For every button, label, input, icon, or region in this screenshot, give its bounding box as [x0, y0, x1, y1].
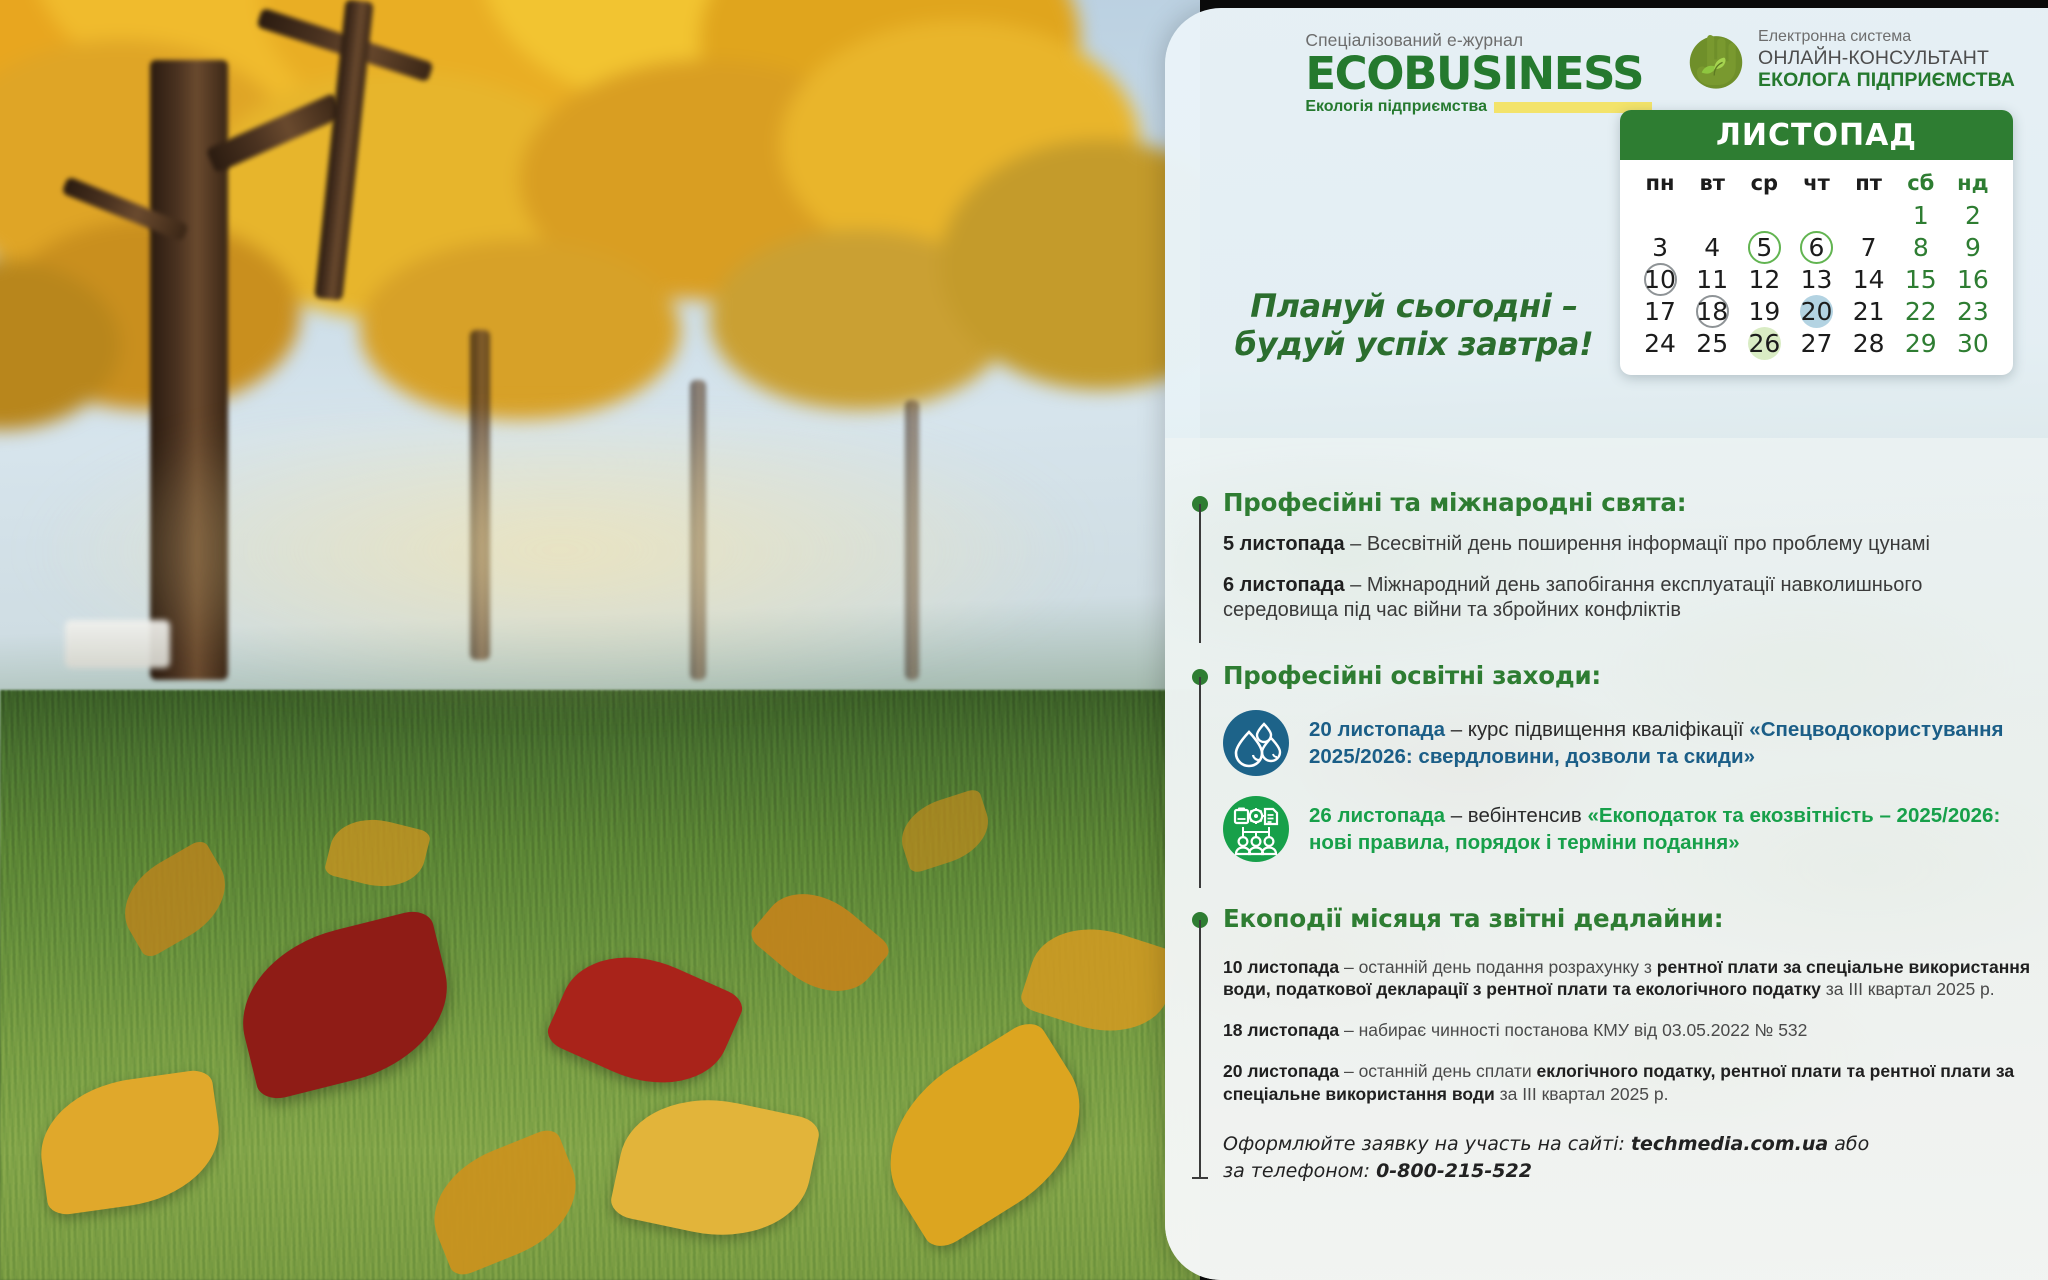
brand-header: Спеціалізований е-журнал ECOBUSINESS Еко…: [1165, 22, 2048, 116]
calendar-weekday-пт: пт: [1843, 166, 1895, 199]
section-deadlines: Екоподії місяця та звітні дедлайни: 10 л…: [1187, 904, 2039, 1184]
consultant-logo[interactable]: Електронна система ОНЛАЙН-КОНСУЛЬТАНТ ЕК…: [1686, 22, 2015, 92]
calendar-week-row: 17181920212223: [1634, 295, 1999, 327]
footer-cta: Оформлюйте заявку на участь на сайті: te…: [1223, 1131, 2039, 1184]
consultant-line-1: Електронна система: [1758, 28, 2015, 47]
deadline-lite-2: за III квартал 2025 р.: [1826, 979, 1995, 999]
calendar-day-15[interactable]: 15: [1895, 263, 1947, 295]
calendar-day-27[interactable]: 27: [1790, 327, 1842, 359]
holiday-dash: –: [1345, 533, 1367, 555]
section-rail: [1199, 504, 1201, 643]
calendar-weekday-пн: пн: [1634, 166, 1686, 199]
calendar-day-empty: [1738, 199, 1790, 231]
calendar-day-4[interactable]: 4: [1686, 231, 1738, 263]
holiday-item: 6 листопада – Міжнародний день запобіган…: [1223, 573, 2039, 623]
calendar-day-number: [1644, 199, 1677, 232]
calendar-day-number: 28: [1852, 327, 1885, 360]
tagline-line-2: будуй успіх завтра!: [1179, 326, 1649, 364]
event-date: 20 листопада: [1309, 718, 1445, 741]
calendar-day-5[interactable]: 5: [1738, 231, 1790, 263]
calendar-day-number: 15: [1904, 263, 1937, 296]
event-text-ecotax: 26 листопада – вебінтенсив «Екоподаток т…: [1309, 802, 2039, 856]
calendar-day-number: 14: [1852, 263, 1885, 296]
calendar-day-3[interactable]: 3: [1634, 231, 1686, 263]
tagline-line-1: Плануй сьогодні –: [1179, 288, 1649, 326]
calendar-day-number: 8: [1904, 231, 1937, 264]
calendar-day-number: [1748, 199, 1781, 232]
event-text-water: 20 листопада – курс підвищення кваліфіка…: [1309, 716, 2039, 770]
calendar-day-number: 2: [1956, 199, 1989, 232]
calendar-day-number: 21: [1852, 295, 1885, 328]
holiday-item: 5 листопада – Всесвітній день поширення …: [1223, 532, 2039, 557]
calendar-weekday-row: пнвтсрчтптсбнд: [1634, 166, 1999, 199]
calendar-day-21[interactable]: 21: [1843, 295, 1895, 327]
calendar-widget[interactable]: ЛИСТОПАД пнвтсрчтптсбнд 1234567891011121…: [1620, 110, 2013, 375]
deadline-item: 18 листопада – набирає чинності постанов…: [1223, 1019, 2039, 1042]
deadline-lite-1: набирає чинності постанова КМУ від 03.05…: [1359, 1020, 1808, 1040]
consultant-line-3: ЕКОЛОГА ПІДПРИЄМСТВА: [1758, 69, 2015, 92]
calendar-weekday-вт: вт: [1686, 166, 1738, 199]
calendar-day-empty: [1790, 199, 1842, 231]
calendar-day-6[interactable]: 6: [1790, 231, 1842, 263]
calendar-day-number: 19: [1748, 295, 1781, 328]
deadline-lite-2: за III квартал 2025 р.: [1500, 1084, 1669, 1104]
calendar-day-30[interactable]: 30: [1947, 327, 1999, 359]
section-rail: [1199, 677, 1201, 888]
calendar-day-26[interactable]: 26: [1738, 327, 1790, 359]
section-title-deadlines: Екоподії місяця та звітні дедлайни:: [1223, 904, 2039, 933]
journal-subtitle: Екологія підприємства: [1305, 98, 1487, 116]
footer-or: або: [1828, 1133, 1869, 1155]
ecobusiness-logo[interactable]: Спеціалізований е-журнал ECOBUSINESS Еко…: [1305, 22, 1652, 116]
calendar-day-9[interactable]: 9: [1947, 231, 1999, 263]
calendar-day-number: 29: [1904, 327, 1937, 360]
calendar-day-23[interactable]: 23: [1947, 295, 1999, 327]
calendar-day-empty: [1686, 199, 1738, 231]
calendar-day-number: 25: [1696, 327, 1729, 360]
calendar-weekday-ср: ср: [1738, 166, 1790, 199]
event-row-water[interactable]: 20 листопада – курс підвищення кваліфіка…: [1223, 710, 2039, 776]
deadline-lite-1: останній день подання розрахунку з: [1359, 957, 1657, 977]
calendar-day-24[interactable]: 24: [1634, 327, 1686, 359]
park-bench: [65, 620, 170, 668]
calendar-day-number: 13: [1800, 263, 1833, 296]
footer-phone[interactable]: 0-800-215-522: [1376, 1160, 1532, 1182]
autumn-park-photo: [0, 0, 1200, 1280]
calendar-day-7[interactable]: 7: [1843, 231, 1895, 263]
calendar-day-11[interactable]: 11: [1686, 263, 1738, 295]
calendar-day-number: 6: [1800, 231, 1833, 264]
calendar-day-number: 18: [1696, 295, 1729, 328]
content-column: Професійні та міжнародні свята: 5 листоп…: [1187, 488, 2039, 1185]
section-events: Професійні освітні заходи:: [1187, 661, 2039, 888]
calendar-day-12[interactable]: 12: [1738, 263, 1790, 295]
deadline-dash: –: [1339, 1061, 1358, 1081]
calendar-day-number: 7: [1852, 231, 1885, 264]
calendar-day-13[interactable]: 13: [1790, 263, 1842, 295]
info-panel: Спеціалізований е-журнал ECOBUSINESS Еко…: [1165, 8, 2048, 1280]
calendar-day-empty: [1634, 199, 1686, 231]
holiday-date: 6 листопада: [1223, 574, 1345, 596]
calendar-weekday-чт: чт: [1790, 166, 1842, 199]
sunlight-glow: [0, 430, 1200, 850]
calendar-day-14[interactable]: 14: [1843, 263, 1895, 295]
footer-site-link[interactable]: techmedia.com.ua: [1631, 1133, 1828, 1155]
calendar-day-8[interactable]: 8: [1895, 231, 1947, 263]
calendar-day-number: 16: [1956, 263, 1989, 296]
eco-reporting-icon: [1223, 796, 1289, 862]
calendar-week-row: 12: [1634, 199, 1999, 231]
deadline-date: 10 листопада: [1223, 957, 1339, 977]
calendar-day-empty: [1843, 199, 1895, 231]
calendar-day-2[interactable]: 2: [1947, 199, 1999, 231]
calendar-week-row: 10111213141516: [1634, 263, 1999, 295]
event-date: 26 листопада: [1309, 804, 1445, 827]
section-title-events: Професійні освітні заходи:: [1223, 661, 2039, 690]
deadline-dash: –: [1339, 957, 1358, 977]
calendar-day-number: 4: [1696, 231, 1729, 264]
section-title-holidays: Професійні та міжнародні свята:: [1223, 488, 2039, 517]
water-drops-icon: [1223, 710, 1289, 776]
calendar-day-1[interactable]: 1: [1895, 199, 1947, 231]
calendar-weekday-сб: сб: [1895, 166, 1947, 199]
calendar-week-row: 24252627282930: [1634, 327, 1999, 359]
calendar-day-number: 11: [1696, 263, 1729, 296]
calendar-day-number: 9: [1956, 231, 1989, 264]
calendar-day-number: 10: [1644, 263, 1677, 296]
holiday-text: Всесвітній день поширення інформації про…: [1367, 533, 1930, 555]
holiday-dash: –: [1345, 574, 1367, 596]
calendar-day-number: 3: [1644, 231, 1677, 264]
calendar-day-17[interactable]: 17: [1634, 295, 1686, 327]
calendar-day-18[interactable]: 18: [1686, 295, 1738, 327]
calendar-day-22[interactable]: 22: [1895, 295, 1947, 327]
calendar-day-number: [1800, 199, 1833, 232]
calendar-day-number: 27: [1800, 327, 1833, 360]
calendar-day-number: 5: [1748, 231, 1781, 264]
calendar-day-10[interactable]: 10: [1634, 263, 1686, 295]
calendar-day-28[interactable]: 28: [1843, 327, 1895, 359]
calendar-day-number: 12: [1748, 263, 1781, 296]
deadline-date: 18 листопада: [1223, 1020, 1339, 1040]
calendar-day-number: 24: [1644, 327, 1677, 360]
holiday-date: 5 листопада: [1223, 533, 1345, 555]
calendar-day-number: 20: [1800, 295, 1833, 328]
calendar-day-number: [1696, 199, 1729, 232]
event-mid: – вебінтенсив: [1445, 804, 1587, 827]
calendar-weekday-нд: нд: [1947, 166, 1999, 199]
tagline: Плануй сьогодні –будуй успіх завтра!: [1179, 288, 1649, 364]
calendar-day-25[interactable]: 25: [1686, 327, 1738, 359]
journal-name: ECOBUSINESS: [1305, 52, 1652, 96]
calendar-day-20[interactable]: 20: [1790, 295, 1842, 327]
calendar-day-number: [1852, 199, 1885, 232]
section-holidays: Професійні та міжнародні свята: 5 листоп…: [1187, 488, 2039, 643]
hand-leaf-icon: [1686, 29, 1746, 91]
calendar-day-number: 26: [1748, 327, 1781, 360]
deadline-item: 20 листопада – останній день сплати екло…: [1223, 1060, 2039, 1106]
event-row-ecotax[interactable]: 26 листопада – вебінтенсив «Екоподаток т…: [1223, 796, 2039, 862]
footer-lead: Оформлюйте заявку на участь на сайті:: [1223, 1133, 1631, 1155]
calendar-day-29[interactable]: 29: [1895, 327, 1947, 359]
footer-phone-label: за телефоном:: [1223, 1160, 1376, 1182]
poster-root: Спеціалізований е-журнал ECOBUSINESS Еко…: [0, 0, 2048, 1280]
calendar-day-16[interactable]: 16: [1947, 263, 1999, 295]
calendar-week-row: 3456789: [1634, 231, 1999, 263]
calendar-day-number: 17: [1644, 295, 1677, 328]
calendar-day-19[interactable]: 19: [1738, 295, 1790, 327]
event-mid: – курс підвищення кваліфікації: [1445, 718, 1749, 741]
calendar-day-number: 1: [1904, 199, 1937, 232]
calendar-grid: пнвтсрчтптсбнд 1234567891011121314151617…: [1620, 160, 2013, 367]
deadline-dash: –: [1339, 1020, 1358, 1040]
calendar-day-number: 23: [1956, 295, 1989, 328]
deadline-lite-1: останній день сплати: [1359, 1061, 1537, 1081]
consultant-line-2: ОНЛАЙН-КОНСУЛЬТАНТ: [1758, 47, 2015, 70]
calendar-day-number: 22: [1904, 295, 1937, 328]
calendar-day-number: 30: [1956, 327, 1989, 360]
calendar-month-title: ЛИСТОПАД: [1620, 110, 2013, 160]
deadline-item: 10 листопада – останній день подання роз…: [1223, 956, 2039, 1002]
section-rail: [1199, 920, 1201, 1178]
deadline-date: 20 листопада: [1223, 1061, 1339, 1081]
